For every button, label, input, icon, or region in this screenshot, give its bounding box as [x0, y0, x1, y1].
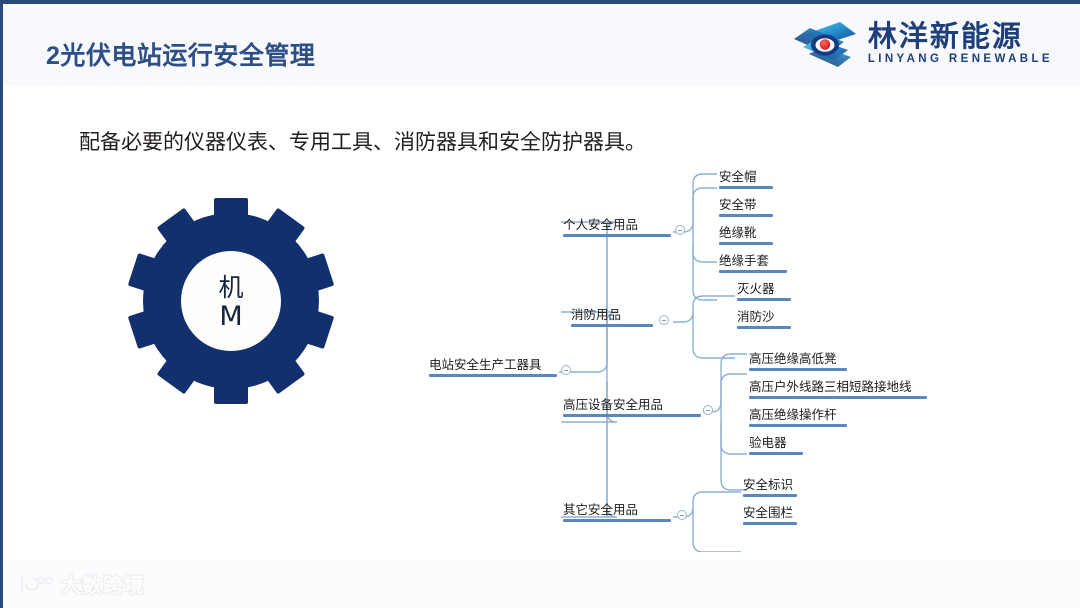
node-underline — [429, 374, 557, 377]
brand-name-cn: 林洋新能源 — [868, 22, 1053, 51]
node-underline — [743, 522, 797, 525]
mindmap: 电站安全生产工器具 个人安全用品 安全帽 安全带 绝缘靴 绝缘手套 消防用品 — [411, 162, 971, 552]
mindmap-branch-hv-equipment-safety[interactable]: 高压设备安全用品 — [563, 398, 701, 419]
page-title: 2光伏电站运行安全管理 — [46, 36, 315, 72]
leaf-label: 安全标识 — [743, 477, 793, 492]
node-underline — [563, 234, 671, 237]
node-underline — [749, 452, 803, 455]
brand-name-en: LINYANG RENEWABLE — [868, 54, 1053, 66]
mindmap-leaf-safety-fence[interactable]: 安全围栏 — [743, 506, 797, 527]
node-underline — [571, 324, 653, 327]
node-underline — [719, 242, 773, 245]
node-underline — [563, 414, 701, 417]
node-underline — [719, 214, 773, 217]
leaf-label: 验电器 — [749, 435, 787, 450]
collapse-toggle-hv-equipment-safety[interactable] — [703, 405, 713, 415]
collapse-toggle-other-safety[interactable] — [677, 510, 687, 520]
mindmap-leaf-hv-insulating-rod[interactable]: 高压绝缘操作杆 — [749, 408, 847, 429]
mindmap-root-node[interactable]: 电站安全生产工器具 — [429, 358, 557, 379]
mindmap-leaf-voltage-detector[interactable]: 验电器 — [749, 436, 803, 457]
node-underline — [737, 326, 791, 329]
node-underline — [749, 424, 847, 427]
brand-text: 林洋新能源 LINYANG RENEWABLE — [868, 22, 1053, 66]
branch-label: 高压设备安全用品 — [563, 397, 663, 412]
node-underline — [749, 396, 927, 399]
collapse-toggle-root[interactable] — [561, 365, 571, 375]
lead-paragraph: 配备必要的仪器仪表、专用工具、消防器具和安全防护器具。 — [79, 126, 646, 156]
node-underline — [743, 494, 797, 497]
mindmap-branch-other-safety[interactable]: 其它安全用品 — [563, 503, 671, 524]
mindmap-leaf-hv-insulating-stool[interactable]: 高压绝缘高低凳 — [749, 352, 847, 373]
mindmap-leaf-insulating-gloves[interactable]: 绝缘手套 — [719, 254, 787, 275]
node-underline — [563, 519, 671, 522]
gear-icon — [121, 196, 341, 411]
leaf-label: 安全围栏 — [743, 505, 793, 520]
node-underline — [719, 186, 773, 189]
leaf-label: 高压绝缘操作杆 — [749, 407, 837, 422]
slide-header: 2光伏电站运行安全管理 — [3, 4, 1080, 86]
mindmap-leaf-fire-extinguisher[interactable]: 灭火器 — [737, 282, 791, 303]
mindmap-leaf-fire-sand[interactable]: 消防沙 — [737, 310, 791, 331]
watermark-text: 大数跨境 — [61, 569, 145, 598]
gear-graphic: 机 M — [121, 196, 341, 411]
footer-band — [3, 560, 1080, 608]
mindmap-leaf-insulating-boots[interactable]: 绝缘靴 — [719, 226, 773, 247]
linyang-swirl-logo-icon — [792, 19, 858, 69]
mindmap-root-label: 电站安全生产工器具 — [429, 357, 542, 372]
mindmap-branch-personal-safety[interactable]: 个人安全用品 — [563, 218, 671, 239]
mindmap-branch-fire-supplies[interactable]: 消防用品 — [571, 308, 653, 329]
node-underline — [749, 368, 847, 371]
node-underline — [737, 298, 791, 301]
branch-label: 其它安全用品 — [563, 502, 638, 517]
leaf-label: 绝缘手套 — [719, 253, 769, 268]
leaf-label: 高压绝缘高低凳 — [749, 351, 837, 366]
mindmap-leaf-safety-helmet[interactable]: 安全帽 — [719, 170, 773, 191]
leaf-label: 消防沙 — [737, 309, 775, 324]
leaf-label: 安全帽 — [719, 169, 757, 184]
branch-label: 消防用品 — [571, 307, 621, 322]
collapse-toggle-fire-supplies[interactable] — [659, 315, 669, 325]
watermark: 大数跨境 — [19, 569, 145, 598]
leaf-label: 高压户外线路三相短路接地线 — [749, 379, 912, 394]
leaf-label: 安全带 — [719, 197, 757, 212]
node-underline — [719, 270, 787, 273]
brand-logo: 林洋新能源 LINYANG RENEWABLE — [792, 16, 1053, 72]
mindmap-leaf-safety-belt[interactable]: 安全带 — [719, 198, 773, 219]
collapse-toggle-personal-safety[interactable] — [675, 225, 685, 235]
leaf-label: 灭火器 — [737, 281, 775, 296]
slide: 2光伏电站运行安全管理 — [0, 0, 1080, 608]
mindmap-leaf-hv-outdoor-grounding-line[interactable]: 高压户外线路三相短路接地线 — [749, 380, 927, 401]
branch-label: 个人安全用品 — [563, 217, 638, 232]
dashu-kuajing-logo-icon — [19, 574, 53, 594]
mindmap-leaf-safety-signage[interactable]: 安全标识 — [743, 478, 797, 499]
leaf-label: 绝缘靴 — [719, 225, 757, 240]
